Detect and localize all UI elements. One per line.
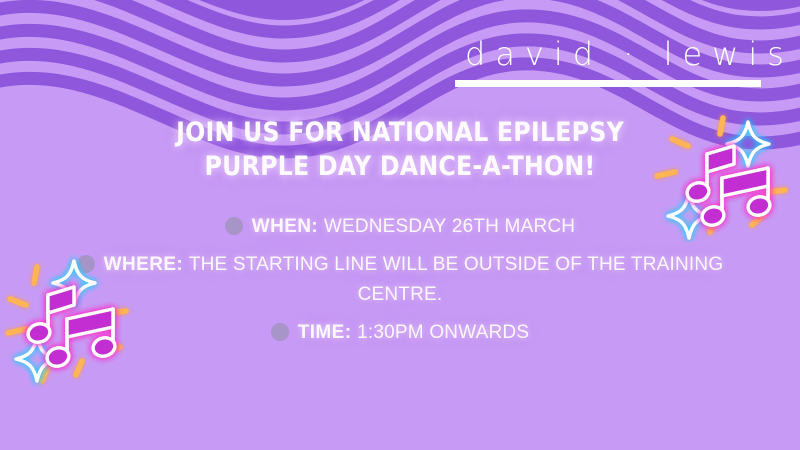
detail-label-time: TIME: bbox=[298, 322, 357, 343]
headline-line-2: PURPLE DAY DANCE-A-THON! bbox=[48, 150, 752, 184]
headline-line-1: JOIN US FOR NATIONAL EPILEPSY bbox=[48, 116, 752, 150]
event-poster: david · lewis JOIN US FOR NATIONAL EPILE… bbox=[0, 0, 800, 450]
logo-underline-rule bbox=[455, 80, 761, 87]
detail-value-when: WEDNESDAY 26TH MARCH bbox=[324, 216, 575, 237]
brand-logo: david · lewis bbox=[455, 38, 770, 87]
event-details: WHEN: WEDNESDAY 26TH MARCH WHERE: THE ST… bbox=[60, 212, 740, 356]
logo-wordmark: david · lewis bbox=[455, 38, 770, 72]
detail-value-time: 1:30PM ONWARDS bbox=[357, 322, 529, 343]
page-title: JOIN US FOR NATIONAL EPILEPSY PURPLE DAY… bbox=[48, 116, 752, 184]
detail-row-when: WHEN: WEDNESDAY 26TH MARCH bbox=[60, 212, 740, 242]
music-note-sticker-left bbox=[4, 252, 146, 394]
bullet-circle-icon bbox=[271, 323, 289, 341]
bullet-circle-icon bbox=[225, 217, 243, 235]
music-note-sticker-right bbox=[648, 106, 790, 242]
detail-row-time: TIME: 1:30PM ONWARDS bbox=[60, 318, 740, 348]
detail-row-where: WHERE: THE STARTING LINE WILL BE OUTSIDE… bbox=[70, 250, 730, 310]
detail-value-where: THE STARTING LINE WILL BE OUTSIDE OF THE… bbox=[189, 254, 724, 305]
detail-label-when: WHEN: bbox=[252, 216, 324, 237]
